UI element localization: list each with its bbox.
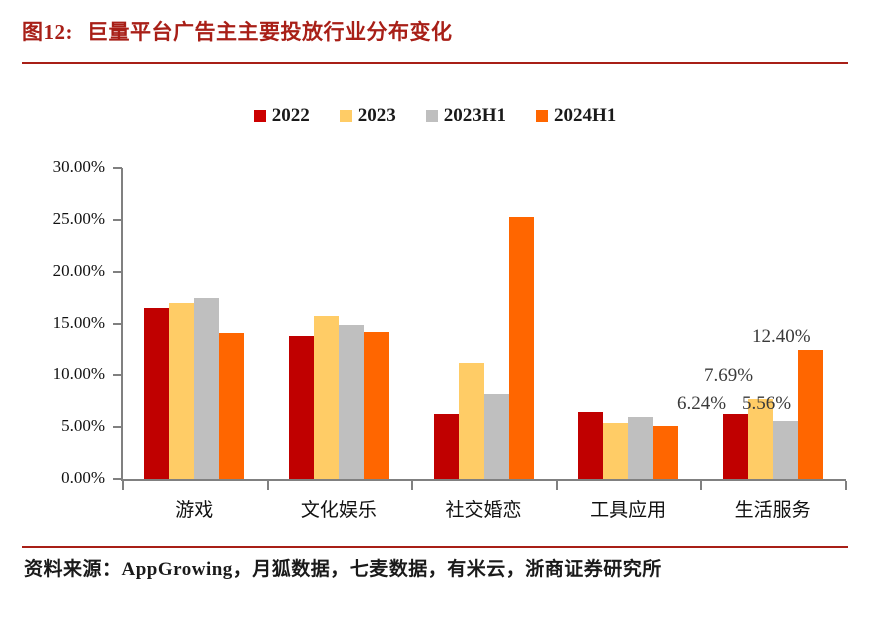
x-axis-line <box>121 479 846 481</box>
title-divider <box>22 62 848 64</box>
y-axis-tick-label: 15.00% <box>5 313 105 333</box>
bar-2024H1-社交婚恋[interactable] <box>509 217 534 479</box>
legend-swatch-icon <box>254 110 266 122</box>
figure-title-text: 巨量平台广告主主要投放行业分布变化 <box>87 20 453 44</box>
bar-2024H1-游戏[interactable] <box>219 333 244 479</box>
bar-2023-工具应用[interactable] <box>603 423 628 479</box>
y-axis-tick-label: 5.00% <box>5 416 105 436</box>
y-axis-tick-label: 10.00% <box>5 364 105 384</box>
y-axis-tick <box>113 323 122 325</box>
bar-2023H1-文化娱乐[interactable] <box>339 325 364 479</box>
x-axis-tick <box>700 481 702 490</box>
bar-2024H1-文化娱乐[interactable] <box>364 332 389 479</box>
bar-group-文化娱乐 <box>289 168 389 479</box>
bar-group-生活服务 <box>723 168 823 479</box>
x-axis-tick <box>267 481 269 490</box>
y-axis-tick <box>113 167 122 169</box>
x-axis-category-label: 工具应用 <box>556 495 701 522</box>
x-axis-tick <box>556 481 558 490</box>
bar-2022-游戏[interactable] <box>144 308 169 479</box>
data-label: 6.24% <box>677 393 726 415</box>
x-axis-category-label: 社交婚恋 <box>411 495 556 522</box>
source-note: 资料来源：AppGrowing，月狐数据，七麦数据，有米云，浙商证券研究所 <box>24 556 848 584</box>
x-axis-category-label: 生活服务 <box>700 495 845 522</box>
legend-item-2022: 2022 <box>254 106 310 125</box>
bar-2022-文化娱乐[interactable] <box>289 336 314 479</box>
legend-label: 2024H1 <box>554 106 616 125</box>
bar-2023-文化娱乐[interactable] <box>314 316 339 479</box>
bar-2023-游戏[interactable] <box>169 303 194 479</box>
y-axis-tick <box>113 478 122 480</box>
x-axis-tick <box>845 481 847 490</box>
figure-header: 图12:巨量平台广告主主要投放行业分布变化 <box>22 16 848 46</box>
legend-label: 2023 <box>358 106 396 125</box>
bar-2024H1-生活服务[interactable] <box>798 350 823 479</box>
legend-item-2023: 2023 <box>340 106 396 125</box>
bar-group-工具应用 <box>578 168 678 479</box>
x-axis-tick <box>411 481 413 490</box>
bar-2023H1-社交婚恋[interactable] <box>484 394 509 479</box>
legend-item-2024H1: 2024H1 <box>536 106 616 125</box>
y-axis-tick <box>113 426 122 428</box>
bar-group-社交婚恋 <box>434 168 534 479</box>
y-axis-tick <box>113 219 122 221</box>
bar-2023-社交婚恋[interactable] <box>459 363 484 479</box>
bar-2023H1-游戏[interactable] <box>194 298 219 479</box>
bar-2022-工具应用[interactable] <box>578 412 603 479</box>
legend-swatch-icon <box>340 110 352 122</box>
data-label: 7.69% <box>704 365 753 387</box>
page-title: 图12:巨量平台广告主主要投放行业分布变化 <box>22 16 848 46</box>
bar-2023H1-工具应用[interactable] <box>628 417 653 479</box>
y-axis-tick-label: 0.00% <box>5 468 105 488</box>
x-axis-tick <box>122 481 124 490</box>
bar-group-游戏 <box>144 168 244 479</box>
figure-number: 图12: <box>22 20 73 44</box>
y-axis-tick <box>113 374 122 376</box>
x-axis-category-label: 文化娱乐 <box>267 495 412 522</box>
data-label: 5.56% <box>742 393 791 415</box>
legend-swatch-icon <box>426 110 438 122</box>
chart-legend: 202220232023H12024H1 <box>0 106 870 125</box>
y-axis-tick-label: 20.00% <box>5 261 105 281</box>
bar-2022-社交婚恋[interactable] <box>434 414 459 479</box>
footer-divider <box>22 546 848 548</box>
y-axis-tick <box>113 271 122 273</box>
legend-swatch-icon <box>536 110 548 122</box>
legend-label: 2023H1 <box>444 106 506 125</box>
bar-2024H1-工具应用[interactable] <box>653 426 678 479</box>
bar-2022-生活服务[interactable] <box>723 414 748 479</box>
legend-label: 2022 <box>272 106 310 125</box>
y-axis-tick-label: 30.00% <box>5 157 105 177</box>
bar-2023H1-生活服务[interactable] <box>773 421 798 479</box>
x-axis-category-label: 游戏 <box>122 495 267 522</box>
plot-area: 6.24%7.69%5.56%12.40% <box>122 168 845 479</box>
data-label: 12.40% <box>752 326 811 348</box>
bar-chart: 0.00%5.00%10.00%15.00%20.00%25.00%30.00%… <box>0 150 870 530</box>
legend-item-2023H1: 2023H1 <box>426 106 506 125</box>
y-axis-tick-label: 25.00% <box>5 209 105 229</box>
